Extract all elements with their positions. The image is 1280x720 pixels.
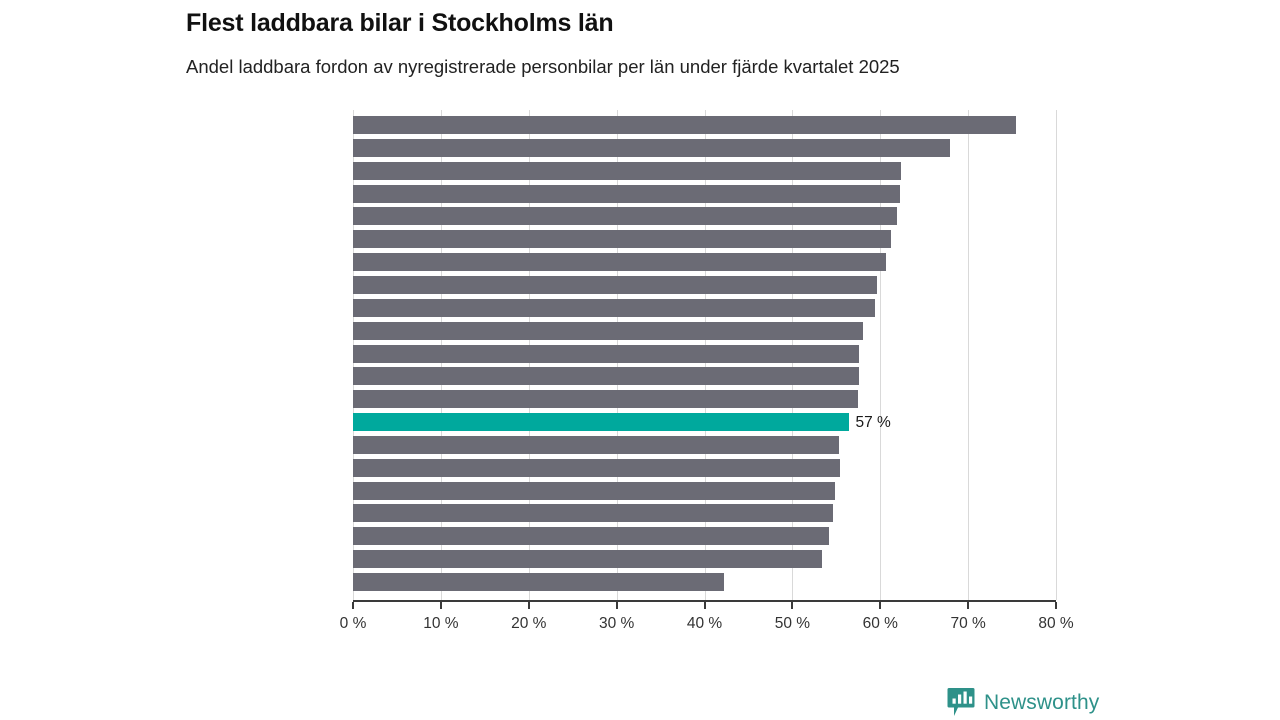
bar	[353, 345, 859, 363]
x-axis-tick-label: 50 %	[775, 615, 810, 633]
bar	[353, 322, 863, 340]
bar	[353, 139, 950, 157]
x-axis-tick-label: 10 %	[423, 615, 458, 633]
x-axis-tick-label: 70 %	[950, 615, 985, 633]
bar-chart: 0 %10 %20 %30 %40 %50 %60 %70 %80 % 57 %…	[0, 0, 1280, 720]
x-axis-tick-label: 80 %	[1038, 615, 1073, 633]
bar	[353, 573, 724, 591]
x-axis-tick	[528, 602, 530, 609]
bar-value-label: 57 %	[855, 414, 890, 432]
bar	[353, 436, 839, 454]
x-axis-tick-label: 20 %	[511, 615, 546, 633]
gridline	[880, 110, 881, 600]
bar	[353, 253, 886, 271]
x-axis-tick-label: 60 %	[863, 615, 898, 633]
bar	[353, 116, 1016, 134]
x-axis-tick-label: 30 %	[599, 615, 634, 633]
x-axis-tick	[440, 602, 442, 609]
x-axis-line	[353, 600, 1056, 602]
bar	[353, 504, 833, 522]
x-axis-tick	[1055, 602, 1057, 609]
x-axis-tick	[352, 602, 354, 609]
x-axis-tick	[879, 602, 881, 609]
bar	[353, 230, 891, 248]
bar	[353, 207, 897, 225]
bar	[353, 185, 900, 203]
gridline	[1056, 110, 1057, 600]
x-axis-tick	[704, 602, 706, 609]
x-axis-tick	[791, 602, 793, 609]
bar	[353, 367, 859, 385]
bar	[353, 550, 822, 568]
bar	[353, 299, 875, 317]
bar	[353, 459, 840, 477]
bar	[353, 276, 877, 294]
x-axis-tick	[616, 602, 618, 609]
brand-name: Newsworthy	[984, 692, 1099, 713]
bar	[353, 390, 858, 408]
newsworthy-logo: Newsworthy	[947, 687, 1099, 717]
gridline	[968, 110, 969, 600]
bar	[353, 482, 835, 500]
bar	[353, 527, 829, 545]
bar-chart-speech-bubble-icon	[947, 687, 975, 717]
x-axis-tick-label: 0 %	[340, 615, 367, 633]
x-axis-tick	[967, 602, 969, 609]
x-axis-tick-label: 40 %	[687, 615, 722, 633]
bar-highlighted	[353, 413, 849, 431]
bar	[353, 162, 901, 180]
